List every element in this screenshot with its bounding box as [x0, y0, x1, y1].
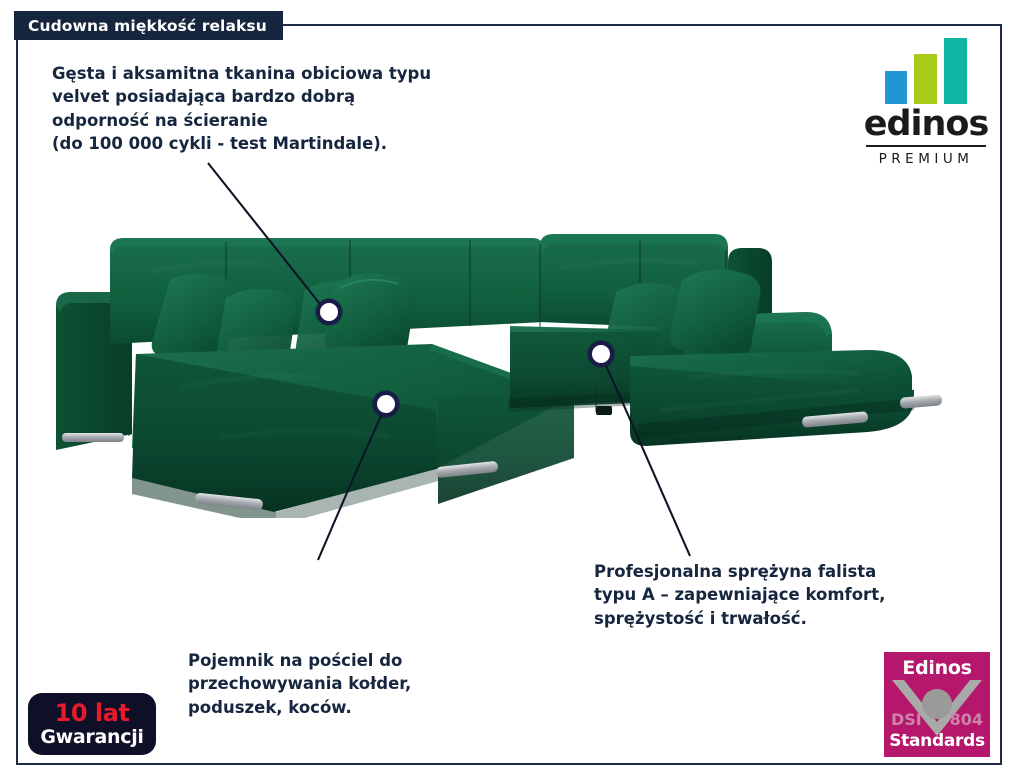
- callout-text-spring: Profesjonalna sprężyna falista typu A – …: [594, 560, 974, 630]
- product-image-sofa: [40, 228, 960, 518]
- callout-dot-storage[interactable]: [373, 391, 399, 417]
- sofa-seat-left-chaise: [132, 344, 574, 518]
- logo-bar-teal: [944, 38, 967, 104]
- callout-text-storage: Pojemnik na pościel do przechowywania ko…: [188, 649, 488, 719]
- sofa-seat-right-chaise: [630, 350, 942, 446]
- standards-brand: Edinos: [884, 657, 990, 679]
- warranty-badge: 10 lat Gwarancji: [28, 693, 156, 755]
- logo-divider: [866, 145, 986, 147]
- standards-code-right: 804: [950, 710, 983, 729]
- dsi-standards-badge: Edinos DSI 804 Standards: [884, 652, 990, 757]
- logo-wordmark: edinos: [856, 107, 996, 142]
- edinos-premium-logo: edinos PREMIUM: [856, 38, 996, 166]
- standards-code-row: DSI 804: [884, 710, 990, 729]
- standards-code-left: DSI: [891, 710, 922, 729]
- logo-bar-green: [914, 54, 937, 104]
- warranty-label: Gwarancji: [40, 727, 143, 748]
- logo-bar-chart-icon: [885, 38, 967, 104]
- logo-subtitle: PREMIUM: [856, 151, 996, 167]
- page-title: Cudowna miękkość relaksu: [28, 17, 267, 35]
- callout-dot-fabric[interactable]: [316, 299, 342, 325]
- warranty-years: 10 lat: [55, 701, 130, 725]
- standards-label: Standards: [884, 731, 990, 751]
- infographic-canvas: Cudowna miękkość relaksu Gęsta i aksamit…: [0, 0, 1020, 777]
- callout-text-fabric: Gęsta i aksamitna tkanina obiciowa typu …: [52, 62, 532, 156]
- logo-bar-blue: [885, 71, 907, 104]
- callout-dot-spring[interactable]: [588, 341, 614, 367]
- standards-checkmark-icon: [884, 678, 990, 738]
- header-title-bar: Cudowna miękkość relaksu: [14, 11, 283, 40]
